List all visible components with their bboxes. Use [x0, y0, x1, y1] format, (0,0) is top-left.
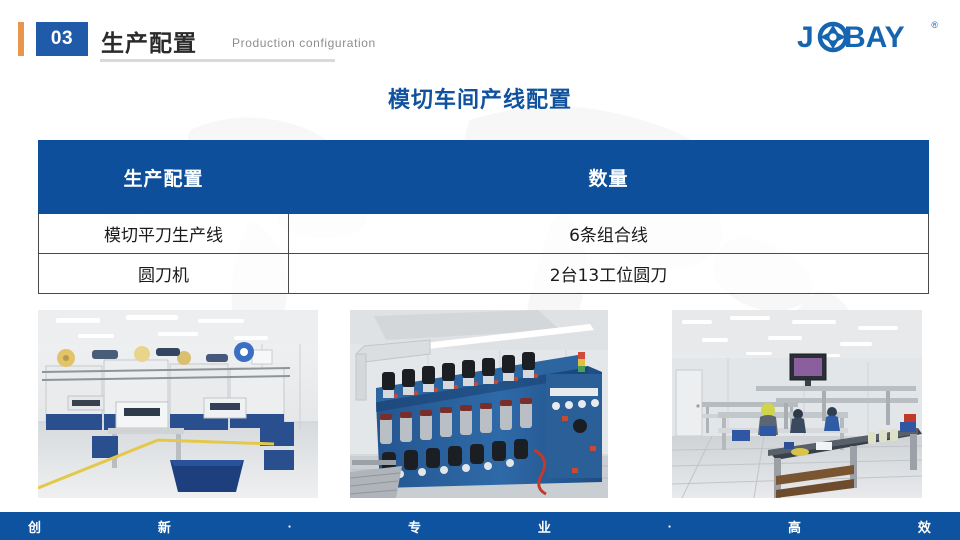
- section-number: 03: [51, 28, 73, 50]
- header-title-en: Production configuration: [232, 36, 376, 50]
- footer-item: 新: [158, 517, 172, 536]
- photo-strip: [38, 310, 922, 498]
- footer-item: 业: [538, 517, 552, 536]
- table-row: 模切平刀生产线 6条组合线: [39, 214, 929, 254]
- assembly-workshop-photo: [672, 310, 922, 498]
- page-title: 模切车间产线配置: [0, 82, 960, 114]
- column-header-quantity: 数量: [289, 141, 929, 214]
- die-cutting-flatbed-production-line-photo: [38, 310, 318, 498]
- footer-item: 创: [28, 517, 42, 536]
- registered-trademark-icon: ®: [931, 20, 938, 30]
- cell-config: 模切平刀生产线: [39, 214, 289, 254]
- footer-item: 高: [788, 517, 802, 536]
- footer-item: 效: [918, 517, 932, 536]
- footer-separator-dot: ·: [288, 519, 292, 534]
- section-number-badge: 03: [36, 22, 88, 56]
- cell-quantity: 2台13工位圆刀: [289, 254, 929, 294]
- jobay-logo: J BAY ®: [797, 18, 938, 58]
- svg-text:J: J: [797, 21, 814, 54]
- cell-config: 圆刀机: [39, 254, 289, 294]
- jobay-wordmark-icon: J BAY: [797, 18, 929, 56]
- column-header-config: 生产配置: [39, 141, 289, 214]
- rotary-die-cutting-machine-photo: [350, 310, 608, 498]
- slide-footer: 创 新 · 专 业 · 高 效: [0, 512, 960, 540]
- header-title-cn: 生产配置: [101, 24, 197, 58]
- svg-text:BAY: BAY: [844, 21, 905, 54]
- footer-separator-dot: ·: [668, 519, 672, 534]
- production-configuration-table: 生产配置 数量 模切平刀生产线 6条组合线 圆刀机 2台13工位圆刀: [38, 140, 929, 294]
- table-header-row: 生产配置 数量: [39, 141, 929, 214]
- cell-quantity: 6条组合线: [289, 214, 929, 254]
- footer-item: 专: [408, 517, 422, 536]
- header-underline: [100, 59, 335, 62]
- table-row: 圆刀机 2台13工位圆刀: [39, 254, 929, 294]
- header-accent-bar: [18, 22, 24, 56]
